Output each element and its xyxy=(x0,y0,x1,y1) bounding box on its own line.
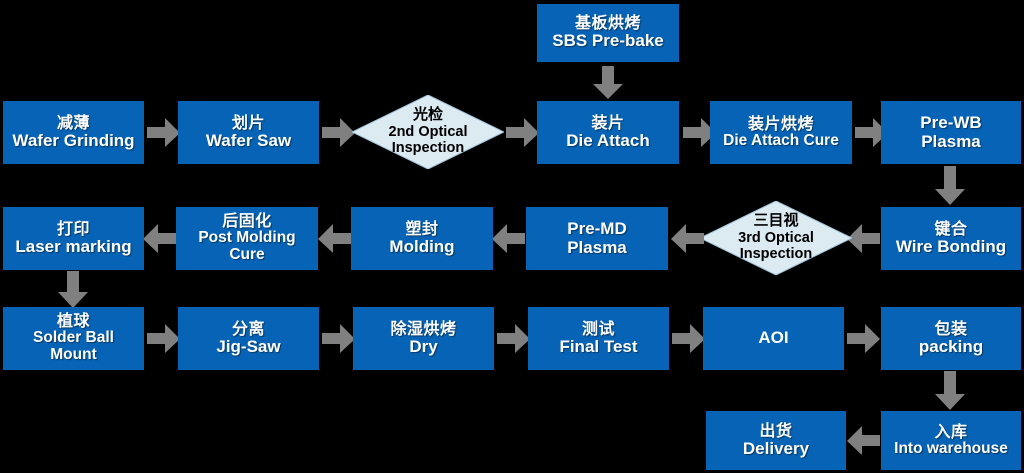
node-label-cn: 划片 xyxy=(232,115,265,132)
diamond-label: 三目视 3rd Optical Inspection xyxy=(700,201,852,275)
node-label-cn: 三目视 xyxy=(753,213,798,230)
node-post-molding-cure[interactable]: 后固化 Post Molding Cure xyxy=(176,207,318,270)
node-label-en-line2: Inspection xyxy=(740,246,813,262)
arrow-into-warehouse-to-delivery xyxy=(846,425,880,457)
node-sbs-prebake[interactable]: 基板烘烤 SBS Pre-bake xyxy=(537,4,679,62)
node-label-en-line2: Plasma xyxy=(921,133,981,151)
arrow-wafer-grinding-to-wafer-saw xyxy=(147,117,181,149)
node-die-attach[interactable]: 装片 Die Attach xyxy=(537,101,679,164)
node-label-en-line2: Inspection xyxy=(392,140,465,156)
node-label-en: Jig-Saw xyxy=(216,338,280,356)
node-label-cn: 包装 xyxy=(934,321,967,338)
node-label-en: Final Test xyxy=(559,338,637,356)
arrow-aoi-to-packing xyxy=(847,323,881,355)
node-label-en-line2: Cure xyxy=(229,247,264,264)
node-pre-wb-plasma[interactable]: Pre-WB Plasma xyxy=(881,101,1021,164)
node-label-en: Dry xyxy=(409,338,437,356)
node-solder-ball-mount[interactable]: 植球 Solder Ball Mount xyxy=(3,307,144,370)
node-laser-marking[interactable]: 打印 Laser marking xyxy=(3,207,144,270)
arrow-optical-3rd-to-pre-md-plasma xyxy=(670,223,704,255)
process-flow-diagram: 基板烘烤 SBS Pre-bake 减薄 Wafer Grinding 划片 W… xyxy=(0,0,1024,473)
node-label-cn: 入库 xyxy=(934,424,967,441)
arrow-sbs-prebake-to-die-attach xyxy=(592,66,624,100)
node-label-en: Die Attach Cure xyxy=(723,133,839,150)
arrow-post-molding-cure-to-laser-marking xyxy=(142,223,176,255)
node-label-cn: 减薄 xyxy=(57,115,90,132)
node-label-en-line1: Solder Ball xyxy=(33,330,114,347)
node-dry[interactable]: 除湿烘烤 Dry xyxy=(353,307,494,370)
node-label-cn: 打印 xyxy=(57,221,90,238)
node-label-cn: 基板烘烤 xyxy=(575,15,641,32)
node-label-cn: 装片 xyxy=(591,115,624,132)
node-label-en: Die Attach xyxy=(566,132,649,150)
node-label-en-line1: Pre-WB xyxy=(920,114,981,132)
node-optical-3rd[interactable]: 三目视 3rd Optical Inspection xyxy=(700,201,852,275)
node-wafer-grinding[interactable]: 减薄 Wafer Grinding xyxy=(3,101,144,164)
node-label-en: Into warehouse xyxy=(894,441,1008,458)
node-molding[interactable]: 塑封 Molding xyxy=(351,207,493,270)
arrow-laser-marking-to-solder-ball-mount xyxy=(57,271,89,309)
node-final-test[interactable]: 测试 Final Test xyxy=(528,307,669,370)
node-label-en: SBS Pre-bake xyxy=(552,32,664,50)
node-label-cn: 分离 xyxy=(232,321,265,338)
node-label-en: Wire Bonding xyxy=(896,238,1006,256)
node-label-cn: 植球 xyxy=(57,313,90,330)
node-label-en: Wafer Grinding xyxy=(12,132,134,150)
node-label-en-line1: Post Molding xyxy=(198,230,295,247)
node-optical-2nd[interactable]: 光检 2nd Optical Inspection xyxy=(352,95,504,169)
node-label-en: Laser marking xyxy=(15,238,131,256)
node-label-en: Molding xyxy=(389,238,454,256)
diamond-label: 光检 2nd Optical Inspection xyxy=(352,95,504,169)
node-label-cn: 测试 xyxy=(582,321,615,338)
node-label-cn: 光检 xyxy=(413,107,443,124)
node-label-en: Wafer Saw xyxy=(206,132,291,150)
node-delivery[interactable]: 出货 Delivery xyxy=(706,411,846,470)
node-label-cn: 后固化 xyxy=(222,213,272,230)
node-packing[interactable]: 包装 packing xyxy=(881,307,1021,370)
node-label-en: AOI xyxy=(758,329,788,347)
arrow-packing-to-into-warehouse xyxy=(934,371,966,411)
arrow-jig-saw-to-dry xyxy=(322,323,356,355)
arrow-optical-2nd-to-die-attach xyxy=(506,117,540,149)
node-jig-saw[interactable]: 分离 Jig-Saw xyxy=(178,307,319,370)
node-label-en-line2: Mount xyxy=(50,347,96,364)
node-label-en-line1: 2nd Optical xyxy=(389,124,468,140)
arrow-pre-wb-plasma-to-wire-bonding xyxy=(934,166,966,206)
node-label-en-line2: Plasma xyxy=(567,239,627,257)
node-wire-bonding[interactable]: 键合 Wire Bonding xyxy=(881,207,1021,270)
node-into-warehouse[interactable]: 入库 Into warehouse xyxy=(881,411,1021,470)
node-label-cn: 出货 xyxy=(759,423,792,440)
node-label-cn: 塑封 xyxy=(405,221,438,238)
arrow-pre-md-plasma-to-molding xyxy=(491,223,525,255)
node-label-cn: 键合 xyxy=(934,221,967,238)
node-label-en: packing xyxy=(919,338,983,356)
node-label-en-line1: 3rd Optical xyxy=(738,230,814,246)
node-wafer-saw[interactable]: 划片 Wafer Saw xyxy=(178,101,319,164)
node-label-cn: 装片烘烤 xyxy=(748,116,814,133)
arrow-wafer-saw-to-optical-2nd xyxy=(322,117,356,149)
node-label-en-line1: Pre-MD xyxy=(567,220,627,238)
node-label-cn: 除湿烘烤 xyxy=(390,321,456,338)
node-die-attach-cure[interactable]: 装片烘烤 Die Attach Cure xyxy=(710,101,852,164)
arrow-solder-ball-mount-to-jig-saw xyxy=(147,323,181,355)
node-aoi[interactable]: AOI xyxy=(703,307,844,370)
node-pre-md-plasma[interactable]: Pre-MD Plasma xyxy=(526,207,668,270)
arrow-dry-to-final-test xyxy=(497,323,531,355)
arrow-molding-to-post-molding-cure xyxy=(317,223,351,255)
node-label-en: Delivery xyxy=(743,440,809,458)
arrow-final-test-to-aoi xyxy=(672,323,706,355)
